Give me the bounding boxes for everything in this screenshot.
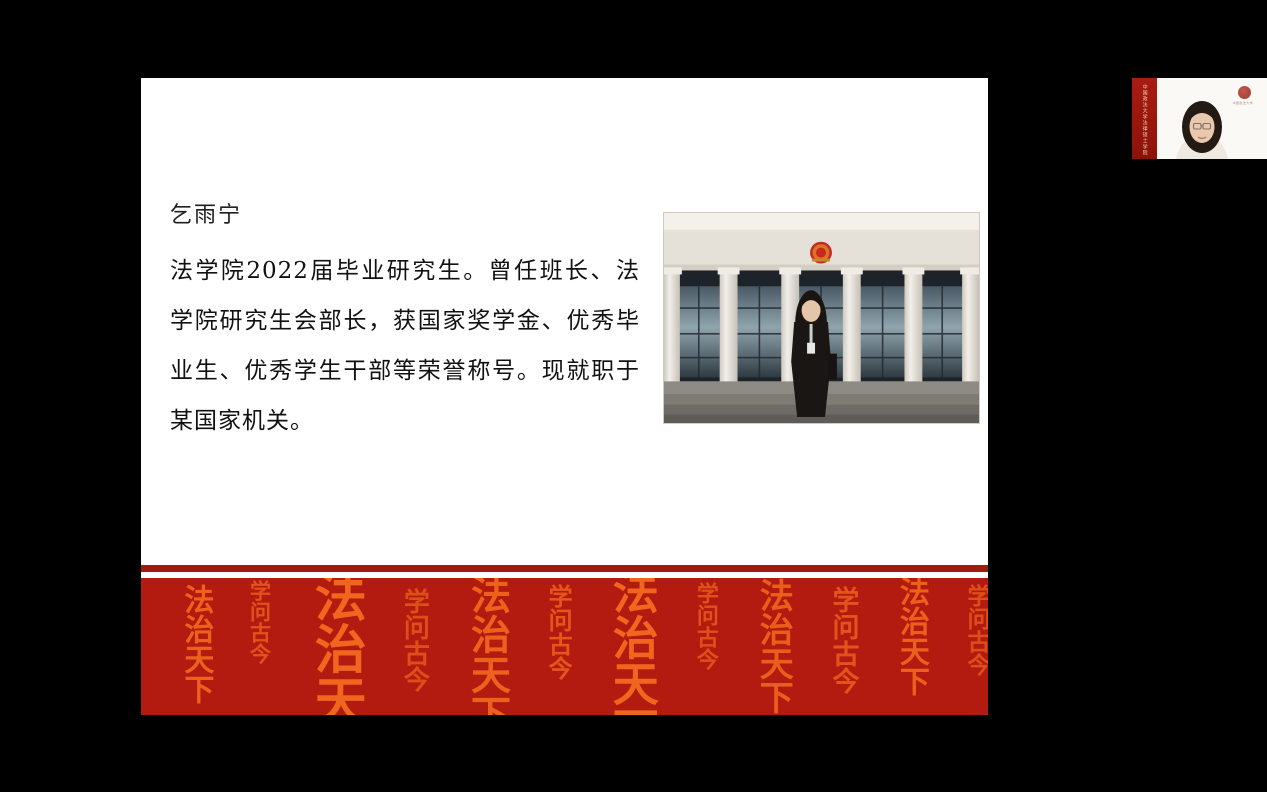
footer-calligraphy-column: 法治天下	[427, 578, 507, 715]
footer-calligraphy-column: 学问古今	[656, 582, 717, 670]
university-seal-icon	[1238, 86, 1251, 99]
footer-calligraphy-column: 学问古今	[210, 580, 270, 664]
webcam-background-banner: 中国政法大学法律硕士学院	[1132, 78, 1157, 159]
meeting-video-stage: 乞雨宁 法学院2022届毕业研究生。曾任班长、法学院研究生会部长，获国家奖学金、…	[0, 0, 1267, 792]
person-bio-paragraph: 法学院2022届毕业研究生。曾任班长、法学院研究生会部长，获国家奖学金、优秀毕业…	[170, 246, 640, 446]
footer-calligraphy-column: 学问古今	[362, 588, 427, 692]
shared-slide[interactable]: 乞雨宁 法学院2022届毕业研究生。曾任班长、法学院研究生会部长，获国家奖学金、…	[141, 78, 988, 715]
webcam-background-logo: 中国政法大学	[1238, 86, 1251, 99]
footer-calligraphy-column: 学问古今	[926, 584, 988, 676]
footer-top-rule	[141, 565, 988, 572]
footer-calligraphy-column: 法治天下	[857, 578, 926, 696]
graduate-photo-illustration	[664, 213, 979, 423]
slide-text-block: 乞雨宁 法学院2022届毕业研究生。曾任班长、法学院研究生会部长，获国家奖学金、…	[170, 204, 640, 446]
person-name: 乞雨宁	[170, 204, 640, 228]
footer-calligraphy-column: 法治天下	[270, 578, 362, 715]
webcam-participant-figure	[1174, 93, 1230, 159]
footer-calligraphy-column: 法治天下	[570, 578, 656, 715]
graduate-photo	[663, 212, 980, 424]
footer-calligraphy-band: 法治天下学问古今法治天下学问古今法治天下学问古今法治天下学问古今法治天下学问古今…	[141, 578, 988, 715]
webcam-self-view-tile[interactable]: 中国政法大学法律硕士学院 中国政法大学	[1132, 78, 1267, 159]
footer-calligraphy-column: 学问古今	[507, 584, 570, 680]
footer-calligraphy-column: 法治天下	[141, 584, 210, 704]
webcam-banner-text: 中国政法大学法律硕士学院	[1141, 84, 1147, 156]
webcam-logo-caption: 中国政法大学	[1233, 101, 1253, 105]
footer-calligraphy-columns: 法治天下学问古今法治天下学问古今法治天下学问古今法治天下学问古今法治天下学问古今…	[141, 578, 988, 715]
footer-calligraphy-column: 学问古今	[790, 586, 856, 694]
footer-calligraphy-column: 法治天下	[717, 578, 790, 714]
